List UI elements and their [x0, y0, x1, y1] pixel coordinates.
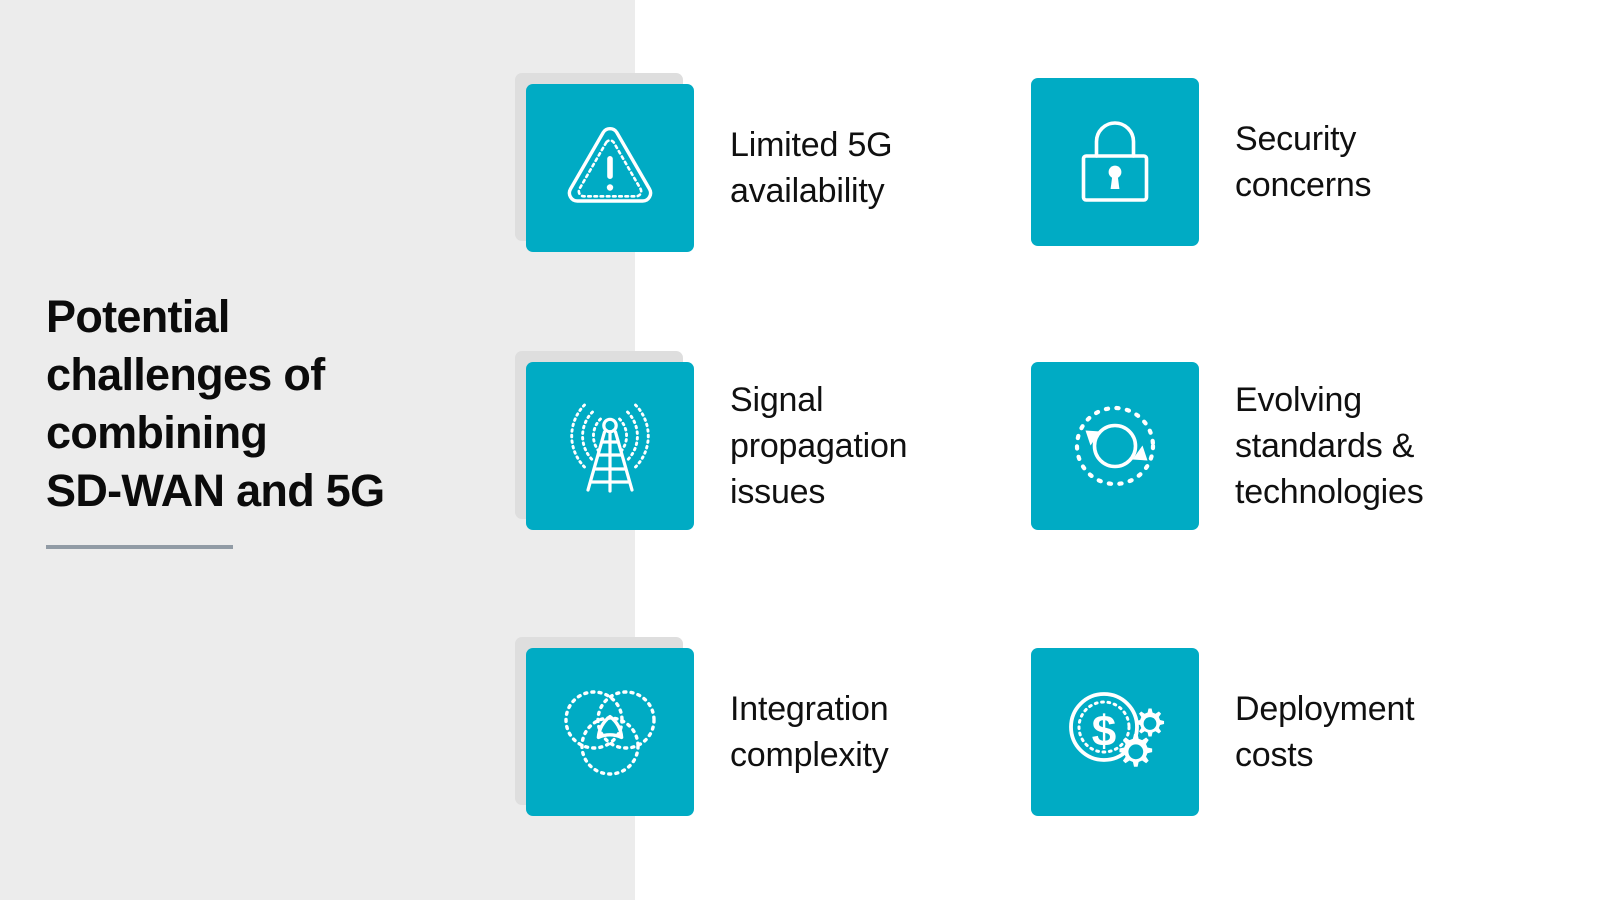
cell-tower-icon — [558, 396, 662, 496]
card-label: Limited 5G availability — [730, 122, 892, 214]
card-integration-complexity[interactable]: Integration complexity — [526, 648, 889, 816]
icon-tile: $ — [1031, 648, 1199, 816]
icon-tile — [1031, 362, 1199, 530]
tile-wrap — [526, 648, 694, 816]
card-deployment-costs[interactable]: $ Deployment costs — [1031, 648, 1414, 816]
refresh-cycle-icon — [1063, 396, 1167, 496]
card-security-concerns[interactable]: Security concerns — [1031, 78, 1371, 246]
tile-wrap: $ — [1031, 648, 1199, 816]
coin-gears-icon: $ — [1060, 682, 1170, 782]
card-evolving-standards-technologies[interactable]: Evolving standards & technologies — [1031, 362, 1424, 530]
icon-tile — [526, 362, 694, 530]
card-label: Evolving standards & technologies — [1235, 377, 1424, 515]
card-label: Deployment costs — [1235, 686, 1414, 778]
icon-tile — [1031, 78, 1199, 246]
infographic-slide: Potential challenges of combining SD-WAN… — [0, 0, 1600, 900]
card-label: Signal propagation issues — [730, 377, 907, 515]
tile-wrap — [1031, 78, 1199, 246]
icon-tile — [526, 648, 694, 816]
challenge-card-grid: Limited 5G availability Security conce — [0, 0, 1600, 900]
tile-wrap — [526, 84, 694, 252]
card-limited-5g-availability[interactable]: Limited 5G availability — [526, 84, 892, 252]
card-signal-propagation-issues[interactable]: Signal propagation issues — [526, 362, 907, 530]
icon-tile — [526, 84, 694, 252]
warning-triangle-icon — [564, 125, 656, 211]
tile-wrap — [526, 362, 694, 530]
svg-text:$: $ — [1092, 707, 1116, 756]
card-label: Integration complexity — [730, 686, 889, 778]
card-label: Security concerns — [1235, 116, 1371, 208]
venn-diagram-icon — [556, 680, 664, 784]
tile-wrap — [1031, 362, 1199, 530]
lock-icon — [1072, 116, 1158, 208]
